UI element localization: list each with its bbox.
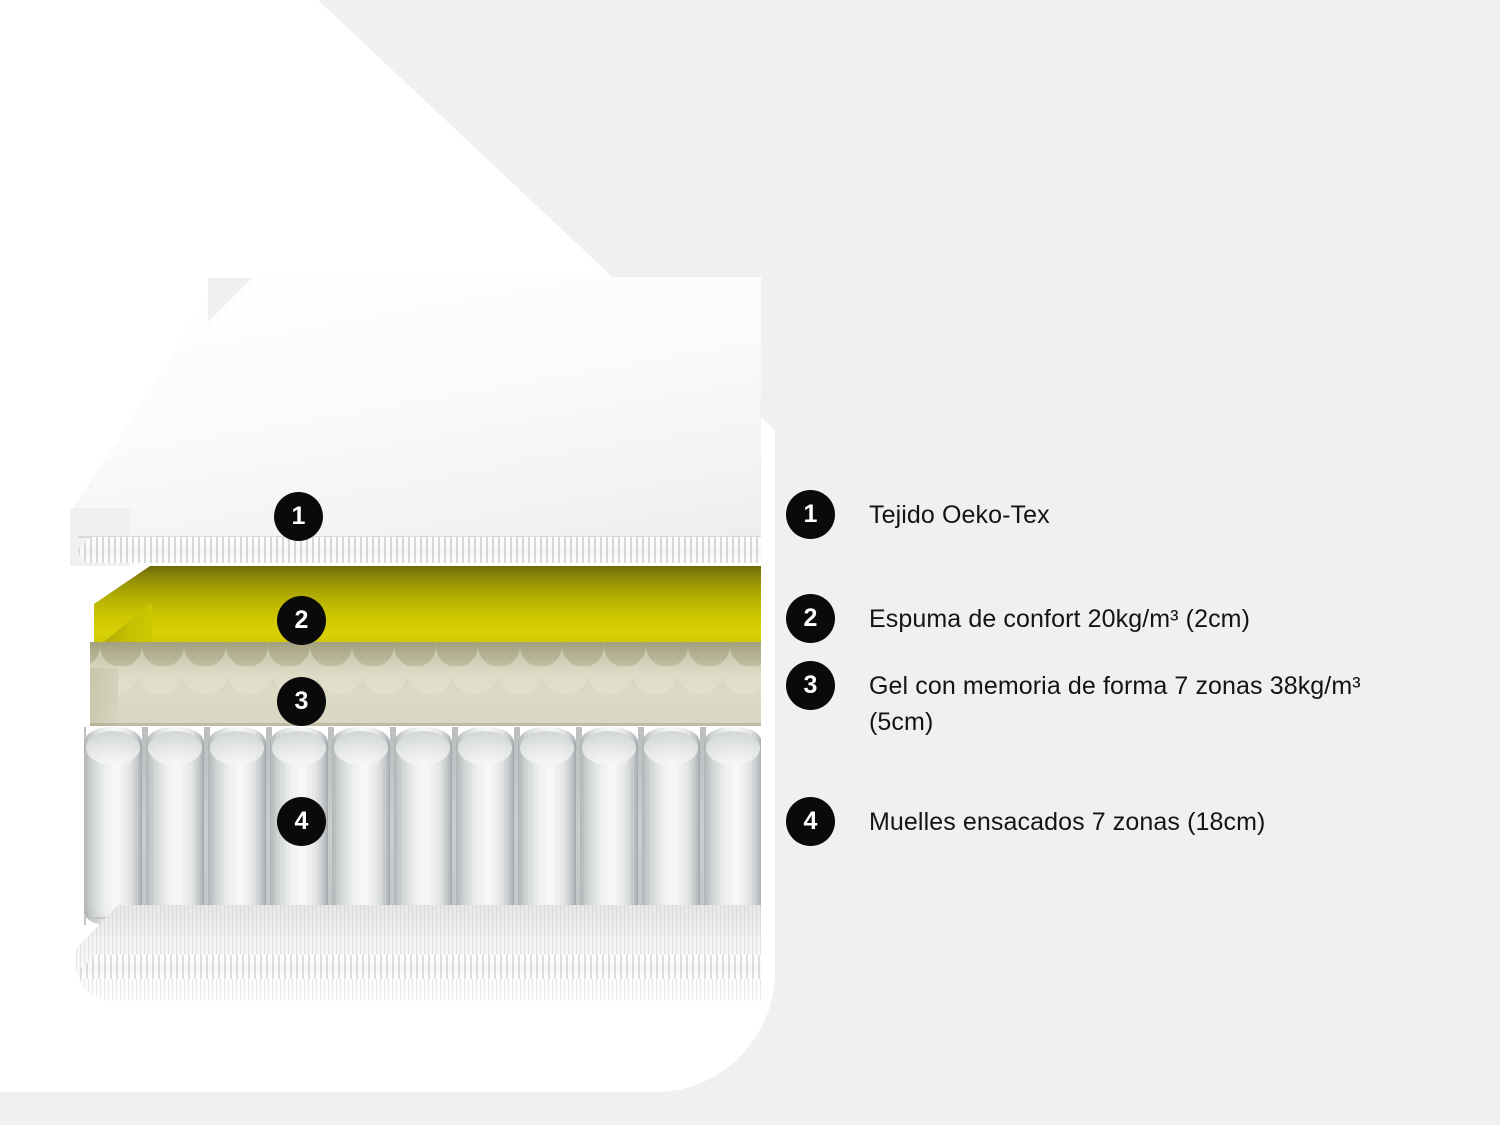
overlay-badge-1[interactable]: 1 xyxy=(274,492,323,541)
gel-wave-bump xyxy=(184,642,226,667)
pocket-spring xyxy=(208,727,266,925)
pocket-spring xyxy=(580,727,638,925)
cover-piping-stitch xyxy=(78,537,761,563)
gel-wave-bump xyxy=(478,642,520,667)
gel-wave-bump xyxy=(646,642,688,667)
pocket-spring xyxy=(332,727,390,925)
gel-wave-bump xyxy=(394,642,436,667)
gel-wave-bump xyxy=(310,642,352,667)
gel-wave-bump xyxy=(587,666,633,694)
legend-badge-1: 1 xyxy=(786,490,835,539)
gel-wave-bump xyxy=(632,666,678,694)
legend-badge-2: 2 xyxy=(786,594,835,643)
gel-wave-bump xyxy=(562,642,604,667)
gel-wave-bump xyxy=(604,642,646,667)
gel-side-face xyxy=(90,668,118,726)
legend-item-4[interactable]: 4 Muelles ensacados 7 zonas (18cm) xyxy=(786,797,1265,846)
diagram-canvas: 1 2 3 4 1 Tejido Oeko-Tex 2 Espuma de co… xyxy=(0,0,1500,1125)
pocket-spring xyxy=(456,727,514,925)
pocket-spring xyxy=(518,727,576,925)
layer-legend: 1 Tejido Oeko-Tex 2 Espuma de confort 20… xyxy=(786,0,1426,1125)
pocket-spring xyxy=(394,727,452,925)
gel-wave-bump xyxy=(730,642,761,667)
gel-wave-bump xyxy=(520,642,562,667)
gel-wave-bump xyxy=(227,666,273,694)
gel-wave-bump xyxy=(722,666,761,694)
gel-wave-bump xyxy=(436,642,478,667)
gel-bottom-edge xyxy=(90,723,761,726)
pocket-spring xyxy=(146,727,204,925)
gel-wave-bump xyxy=(542,666,588,694)
mattress-cover-face xyxy=(72,277,761,563)
gel-wave-bump xyxy=(90,642,100,667)
gel-wave-bump xyxy=(677,666,723,694)
comfort-foam-layer xyxy=(94,566,761,650)
legend-item-3[interactable]: 3 Gel con memoria de forma 7 zonas 38kg/… xyxy=(786,661,1426,740)
gel-wave-bump xyxy=(137,666,183,694)
overlay-badge-4[interactable]: 4 xyxy=(277,797,326,846)
gel-wave-bump xyxy=(407,666,453,694)
gel-wave-bump xyxy=(688,642,730,667)
base-piping-stitch xyxy=(80,955,761,979)
gel-wave-bump xyxy=(268,642,310,667)
gel-wave-bump xyxy=(142,642,184,667)
mattress-base-layer xyxy=(76,905,761,1001)
pocket-spring-layer xyxy=(84,727,761,927)
gel-wave-bump xyxy=(317,666,363,694)
legend-label-3: Gel con memoria de forma 7 zonas 38kg/m³… xyxy=(869,661,1426,740)
mattress-illustration: 1 2 3 4 xyxy=(0,0,761,1125)
gel-wave-bump xyxy=(362,666,408,694)
legend-item-2[interactable]: 2 Espuma de confort 20kg/m³ (2cm) xyxy=(786,594,1250,643)
legend-badge-3: 3 xyxy=(786,661,835,710)
legend-item-1[interactable]: 1 Tejido Oeko-Tex xyxy=(786,490,1050,539)
gel-wave-bump xyxy=(452,666,498,694)
gel-wave-bump xyxy=(182,666,228,694)
gel-wave-bump xyxy=(100,642,142,667)
legend-label-2: Espuma de confort 20kg/m³ (2cm) xyxy=(869,594,1250,637)
pocket-spring xyxy=(704,727,761,925)
pocket-spring xyxy=(642,727,700,925)
gel-wave-bump xyxy=(226,642,268,667)
gel-wave-bump xyxy=(352,642,394,667)
gel-wave-bump xyxy=(497,666,543,694)
legend-badge-4: 4 xyxy=(786,797,835,846)
pocket-spring xyxy=(84,727,142,925)
overlay-badge-2[interactable]: 2 xyxy=(277,596,326,645)
legend-label-1: Tejido Oeko-Tex xyxy=(869,490,1050,533)
gel-wave-profile-front xyxy=(90,666,761,696)
overlay-badge-3[interactable]: 3 xyxy=(277,677,326,726)
legend-label-4: Muelles ensacados 7 zonas (18cm) xyxy=(869,797,1265,840)
